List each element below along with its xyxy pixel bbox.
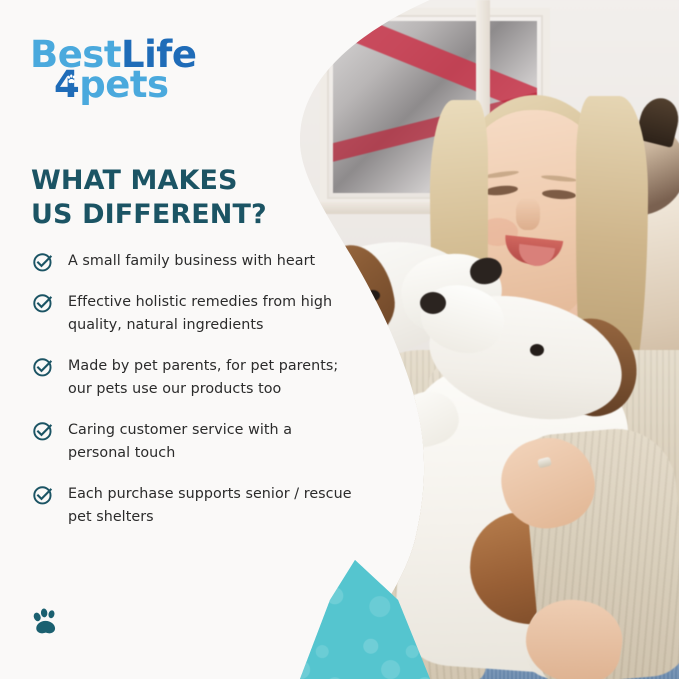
list-item: Effective holistic remedies from high qu… — [32, 291, 362, 337]
paw-print-icon — [66, 74, 77, 85]
check-circle-icon — [32, 420, 54, 442]
check-circle-icon — [32, 484, 54, 506]
photo-woman-nose — [516, 198, 540, 230]
list-item-label: A small family business with heart — [68, 250, 358, 273]
benefits-list: A small family business with heart Effec… — [32, 250, 362, 547]
promotional-poster: BestLife 4pets WHAT MAKES US DIFFERENT? … — [0, 0, 679, 679]
list-item: A small family business with heart — [32, 250, 362, 273]
check-circle-icon — [32, 292, 54, 314]
check-circle-icon — [32, 356, 54, 378]
content-panel: BestLife 4pets WHAT MAKES US DIFFERENT? … — [0, 0, 340, 679]
list-item: Made by pet parents, for pet parents; ou… — [32, 355, 362, 401]
list-item-label: Caring customer service with a personal … — [68, 419, 358, 465]
list-item-label: Made by pet parents, for pet parents; ou… — [68, 355, 358, 401]
headline-line-two: US DIFFERENT? — [31, 198, 331, 232]
photo-dog2-eye — [530, 344, 544, 356]
list-item: Caring customer service with a personal … — [32, 419, 362, 465]
logo-word-pets: pets — [79, 63, 168, 106]
photo-dog1-eye — [366, 290, 380, 301]
headline-line-one: WHAT MAKES — [31, 164, 331, 198]
brand-logo[interactable]: BestLife 4pets — [30, 36, 220, 108]
list-item-label: Effective holistic remedies from high qu… — [68, 291, 358, 337]
photo-dog2-nose — [420, 292, 446, 314]
list-item-label: Each purchase supports senior / rescue p… — [68, 483, 358, 529]
list-item: Each purchase supports senior / rescue p… — [32, 483, 362, 529]
page-title: WHAT MAKES US DIFFERENT? — [31, 164, 331, 232]
paw-print-icon — [30, 606, 62, 638]
check-circle-icon — [32, 251, 54, 273]
